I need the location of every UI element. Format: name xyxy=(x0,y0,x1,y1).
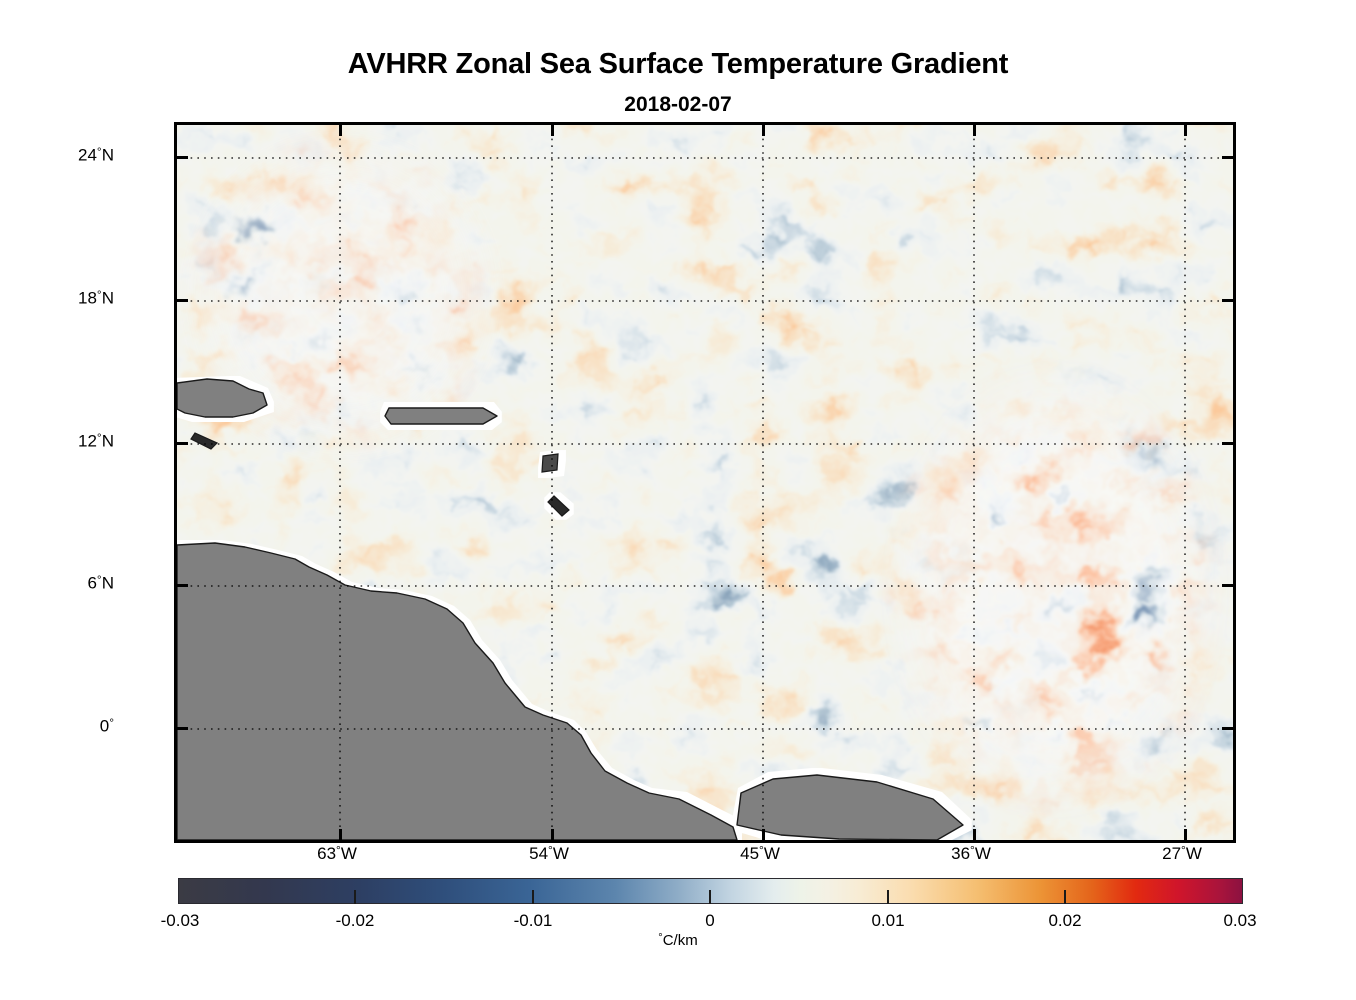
xtick-mark-54w xyxy=(551,829,554,840)
ytick-mark-12 xyxy=(177,442,188,445)
colorbar-unit-label: °C/km xyxy=(0,932,1356,949)
sst-gradient-heatmap xyxy=(177,125,1233,840)
xtick-label-27w: 27°W xyxy=(1162,843,1202,864)
colorbar-label-0-03: 0.03 xyxy=(1223,911,1256,931)
xtick-mark-45w-top xyxy=(762,125,765,136)
xtick-label-36w: 36°W xyxy=(951,843,991,864)
xtick-mark-27w xyxy=(1184,829,1187,840)
colorbar-label--0-03: -0.03 xyxy=(161,911,200,931)
xtick-label-45w: 45°W xyxy=(740,843,780,864)
ytick-label-12n: 12°N xyxy=(78,431,114,452)
xtick-mark-63w-top xyxy=(339,125,342,136)
colorbar-label-0-01: 0.01 xyxy=(871,911,904,931)
xtick-mark-27w-top xyxy=(1184,125,1187,136)
ytick-label-24n: 24°N xyxy=(78,145,114,166)
ytick-mark-0-right xyxy=(1222,727,1233,730)
xtick-label-54w: 54°W xyxy=(529,843,569,864)
map-field-clip xyxy=(177,125,1233,840)
colorbar-tick-0 xyxy=(354,890,356,904)
ytick-mark-18-right xyxy=(1222,299,1233,302)
colorbar-label-0: 0 xyxy=(705,911,714,931)
colorbar-tick-4 xyxy=(1064,890,1066,904)
map-axes[interactable] xyxy=(174,122,1236,843)
colorbar-tick-3 xyxy=(887,890,889,904)
colorbar-tick-2 xyxy=(709,890,711,904)
ytick-mark-24 xyxy=(177,156,188,159)
ytick-mark-6 xyxy=(177,584,188,587)
xtick-label-63w: 63°W xyxy=(317,843,357,864)
xtick-mark-63w xyxy=(339,829,342,840)
subtitle-date: 2018-02-07 xyxy=(0,93,1356,117)
colorbar-label-0-02: 0.02 xyxy=(1048,911,1081,931)
ytick-mark-24-right xyxy=(1222,156,1233,159)
ytick-mark-18 xyxy=(177,299,188,302)
xtick-mark-45w xyxy=(762,829,765,840)
landmass-puerto-rico xyxy=(385,408,497,424)
xtick-mark-36w xyxy=(973,829,976,840)
ytick-label-0: 0° xyxy=(100,716,114,737)
ytick-mark-12-right xyxy=(1222,442,1233,445)
ytick-label-6n: 6°N xyxy=(87,573,114,594)
page-title: AVHRR Zonal Sea Surface Temperature Grad… xyxy=(0,48,1356,81)
colorbar-label--0-02: -0.02 xyxy=(336,911,375,931)
ytick-mark-0 xyxy=(177,727,188,730)
colorbar[interactable] xyxy=(178,878,1243,904)
colorbar-label--0-01: -0.01 xyxy=(514,911,553,931)
ytick-mark-6-right xyxy=(1222,584,1233,587)
figure-canvas: AVHRR Zonal Sea Surface Temperature Grad… xyxy=(0,0,1356,1000)
xtick-mark-54w-top xyxy=(551,125,554,136)
xtick-mark-36w-top xyxy=(973,125,976,136)
ytick-label-18n: 18°N xyxy=(78,288,114,309)
colorbar-tick-1 xyxy=(532,890,534,904)
